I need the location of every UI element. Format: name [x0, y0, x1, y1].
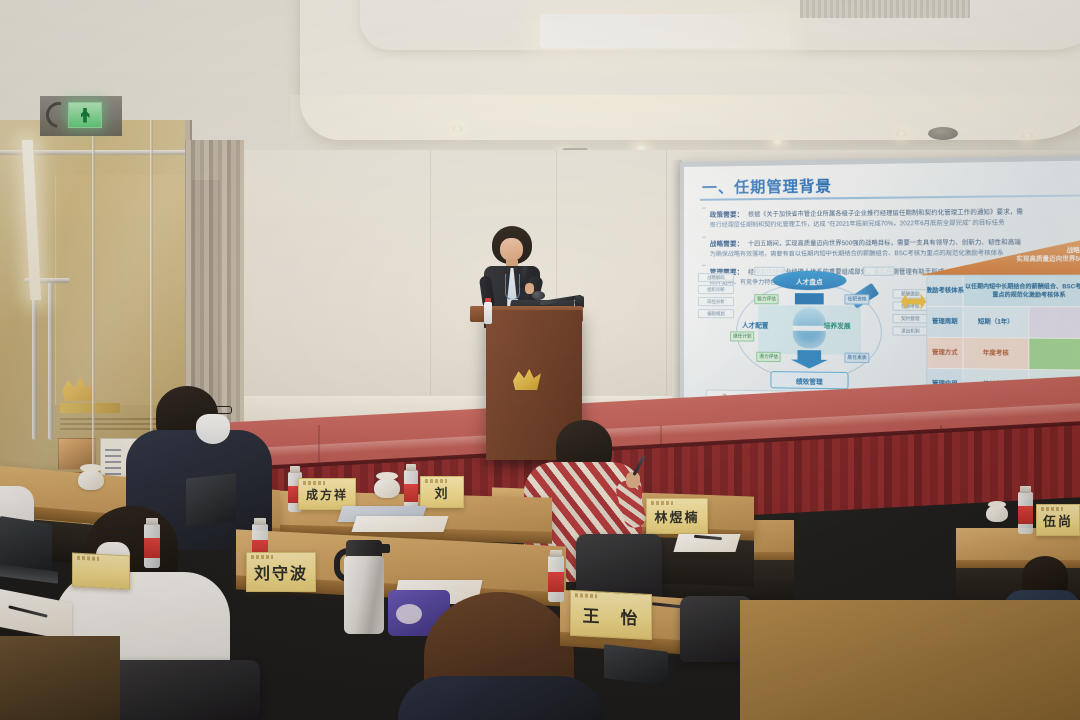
diagram-side-box: 战略解码	[698, 273, 734, 282]
door-handle[interactable]	[48, 280, 53, 440]
tea-cup	[374, 478, 400, 498]
name-placard: 伍尚	[1036, 504, 1080, 536]
attendee-body	[398, 676, 604, 720]
bullet-label: 战略需要：	[710, 240, 744, 247]
tea-cup-lid	[988, 501, 1006, 508]
bottle-label	[404, 484, 418, 502]
floor-shadow	[0, 636, 120, 720]
name-placard: 王 怡	[570, 590, 652, 640]
table-cell: 年度考核	[964, 338, 1030, 370]
wall-panel-seam	[666, 150, 667, 426]
chair	[106, 660, 260, 720]
diagram-arrow-up-icon	[795, 293, 824, 304]
water-bottle	[484, 302, 492, 324]
exit-sign	[68, 102, 102, 128]
projection-screen-frame: 一、任期管理背景 – 政策需要： 根据《关于加快省市管企业所属各级子企业推行经理…	[680, 155, 1080, 409]
diagram-tag-blue: 任职资格	[844, 294, 869, 304]
table-row: 管理周期 短期（1年）	[927, 307, 1080, 339]
house-roof-text: 战略目标 实现高质量迈向世界500强	[1016, 247, 1080, 264]
bottle-cap	[254, 518, 266, 525]
bullet-subtext: 推行经理层任期制和契约化管理工作，达成 “在2021年底前完成70%，2022年…	[710, 219, 1080, 231]
name-placard: 刘守波	[246, 552, 316, 592]
ceiling-air-vent	[800, 0, 970, 18]
eyeglasses	[198, 406, 232, 414]
table-cell: 短期（1年）	[964, 307, 1030, 339]
downlight-icon	[772, 138, 783, 145]
tea-cup-lid	[376, 472, 398, 480]
laptop	[186, 473, 236, 526]
tea-cup-lid	[80, 464, 102, 472]
door-handle[interactable]	[32, 280, 37, 440]
table-cell	[1029, 307, 1080, 339]
floor	[740, 600, 1080, 720]
name-placard: 林煜楠	[646, 498, 708, 534]
diagram-node-bottom: 绩效管理	[770, 371, 848, 389]
bullet-dash-icon: –	[702, 204, 706, 231]
downlight-icon	[452, 125, 463, 132]
bottle-cap	[146, 518, 158, 525]
face-mask	[196, 414, 230, 444]
microphone-head-icon	[532, 291, 545, 300]
list-item: – 政策需要： 根据《关于加快省市管企业所属各级子企业推行经理层任期制和契约化管…	[702, 200, 1080, 231]
bottle-cap	[406, 464, 416, 471]
diagram-tag-green: 潜力评估	[756, 352, 781, 362]
diagram-side-box: 组织诊断	[698, 285, 734, 294]
bottle-cap	[550, 550, 562, 557]
roof-line-1: 战略目标	[1016, 247, 1080, 256]
name-placard	[72, 552, 130, 589]
ceiling-panel-light	[540, 14, 790, 48]
bottle-label	[548, 572, 564, 592]
tea-cup	[78, 470, 104, 490]
downlight-icon	[1022, 132, 1033, 139]
bottle-label	[1018, 506, 1033, 524]
bottle-cap	[290, 466, 300, 473]
slide-cycle-diagram: 战略解码 组织诊断 岗位分析 编制规划 人才盘点 绩效管理 人才配置 培养发展 …	[698, 266, 929, 400]
diagram-node-left: 人才配置	[742, 319, 768, 329]
ceiling-speaker	[928, 127, 958, 140]
bottle-label	[144, 538, 160, 558]
table-row: 激励考核体系 以任期内短中长期结合的薪酬组合、BSC考核为重点的规范化激励考核体…	[927, 276, 1080, 308]
speaker-face	[500, 238, 523, 261]
bag-logo-icon	[396, 604, 422, 624]
notepad	[351, 516, 448, 532]
cove-light-glow	[290, 95, 1080, 155]
table-cell	[1029, 339, 1080, 371]
diagram-top-box	[863, 267, 894, 276]
coffee-thermos	[344, 556, 384, 634]
diagram-tag-green: 能力评估	[754, 294, 779, 304]
wall-panel-seam	[430, 150, 431, 426]
diagram-side-box: 编制规划	[698, 309, 734, 318]
projection-screen: 一、任期管理背景 – 政策需要： 根据《关于加快省市管企业所属各级子企业推行经理…	[684, 160, 1080, 404]
bullet-label: 政策需要：	[710, 211, 744, 218]
diagram-tag-green: 继任计划	[730, 331, 755, 341]
page-title: 一、任期管理背景	[702, 175, 832, 198]
row-header: 管理方式	[927, 338, 963, 369]
diagram-side-box: 岗位分析	[698, 297, 734, 306]
bullet-dash-icon: –	[702, 232, 706, 259]
eyeglasses	[98, 528, 136, 536]
diagram-core-band	[793, 326, 826, 331]
roof-line-2: 实现高质量迈向世界500强	[1016, 256, 1080, 265]
exit-running-man-icon	[81, 108, 90, 123]
diagram-tag-blue: 胜任素质	[844, 353, 869, 363]
table-cell: 以任期内短中长期结合的薪酬组合、BSC考核为重点的规范化激励考核体系	[964, 276, 1080, 308]
thermos-spout	[378, 544, 390, 553]
laptop	[604, 644, 668, 686]
bottle-cap	[1020, 486, 1031, 493]
conference-room-photo: 一、任期管理背景 – 政策需要： 根据《关于加快省市管企业所属各级子企业推行经理…	[0, 0, 1080, 720]
name-placard: 刘	[420, 476, 464, 508]
row-header: 管理周期	[927, 307, 963, 338]
bullet-text: 根据《关于加快省市管企业所属各级子企业推行经理层任期制和契约化管理工作的通知》要…	[748, 210, 1023, 219]
diagram-node-right: 培养发展	[824, 320, 851, 330]
downlight-icon	[896, 130, 907, 137]
table-row: 管理方式 年度考核	[927, 338, 1080, 371]
diagram-node-top: 人才盘点	[772, 271, 846, 290]
slide-title-row: 一、任期管理背景	[702, 171, 1080, 198]
row-header: 激励考核体系	[927, 276, 963, 307]
speaker-lanyard	[505, 274, 520, 300]
